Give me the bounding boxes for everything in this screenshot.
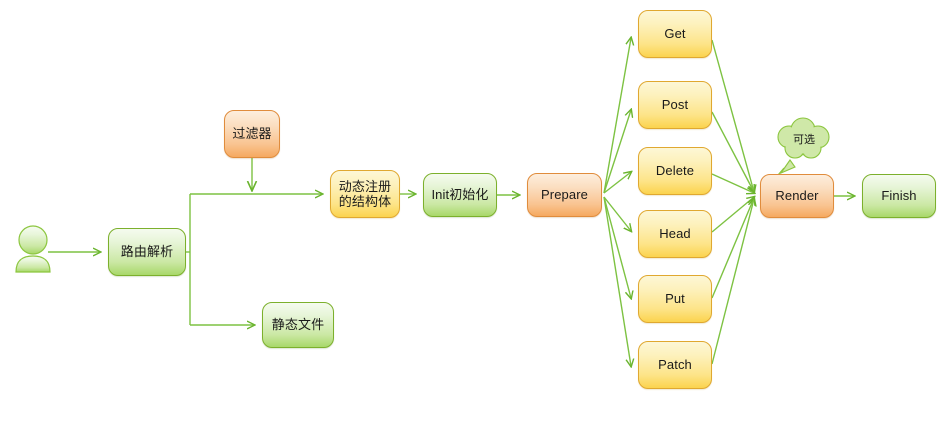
- actor-body-icon: [16, 256, 50, 272]
- node-method-patch[interactable]: Patch: [638, 341, 712, 389]
- node-dynamic-struct[interactable]: 动态注册 的结构体: [330, 170, 400, 218]
- node-route-parse[interactable]: 路由解析: [108, 228, 186, 276]
- edge-delete-render: [712, 174, 754, 193]
- edge-get-render: [712, 40, 754, 192]
- node-filter[interactable]: 过滤器: [224, 110, 280, 158]
- edge-layer: [0, 0, 951, 448]
- node-method-get[interactable]: Get: [638, 10, 712, 58]
- edge-prepare-get: [604, 38, 631, 193]
- optional-cloud-label: 可选: [793, 131, 815, 147]
- node-finish[interactable]: Finish: [862, 174, 936, 218]
- node-method-post[interactable]: Post: [638, 81, 712, 129]
- diagram-canvas: 可选 路由解析 过滤器 静态文件 动态注册 的结构体 Init初始化 Prepa…: [0, 0, 951, 448]
- edge-post-render: [712, 112, 754, 192]
- node-render[interactable]: Render: [760, 174, 834, 218]
- actor-head-icon: [19, 226, 47, 254]
- node-method-head[interactable]: Head: [638, 210, 712, 258]
- cloud-tail-icon: [781, 160, 795, 173]
- node-prepare[interactable]: Prepare: [527, 173, 602, 217]
- edge-prepare-post: [604, 110, 631, 193]
- node-init[interactable]: Init初始化: [423, 173, 497, 217]
- node-method-delete[interactable]: Delete: [638, 147, 712, 195]
- user-actor: [16, 226, 50, 272]
- node-static-file[interactable]: 静态文件: [262, 302, 334, 348]
- node-method-put[interactable]: Put: [638, 275, 712, 323]
